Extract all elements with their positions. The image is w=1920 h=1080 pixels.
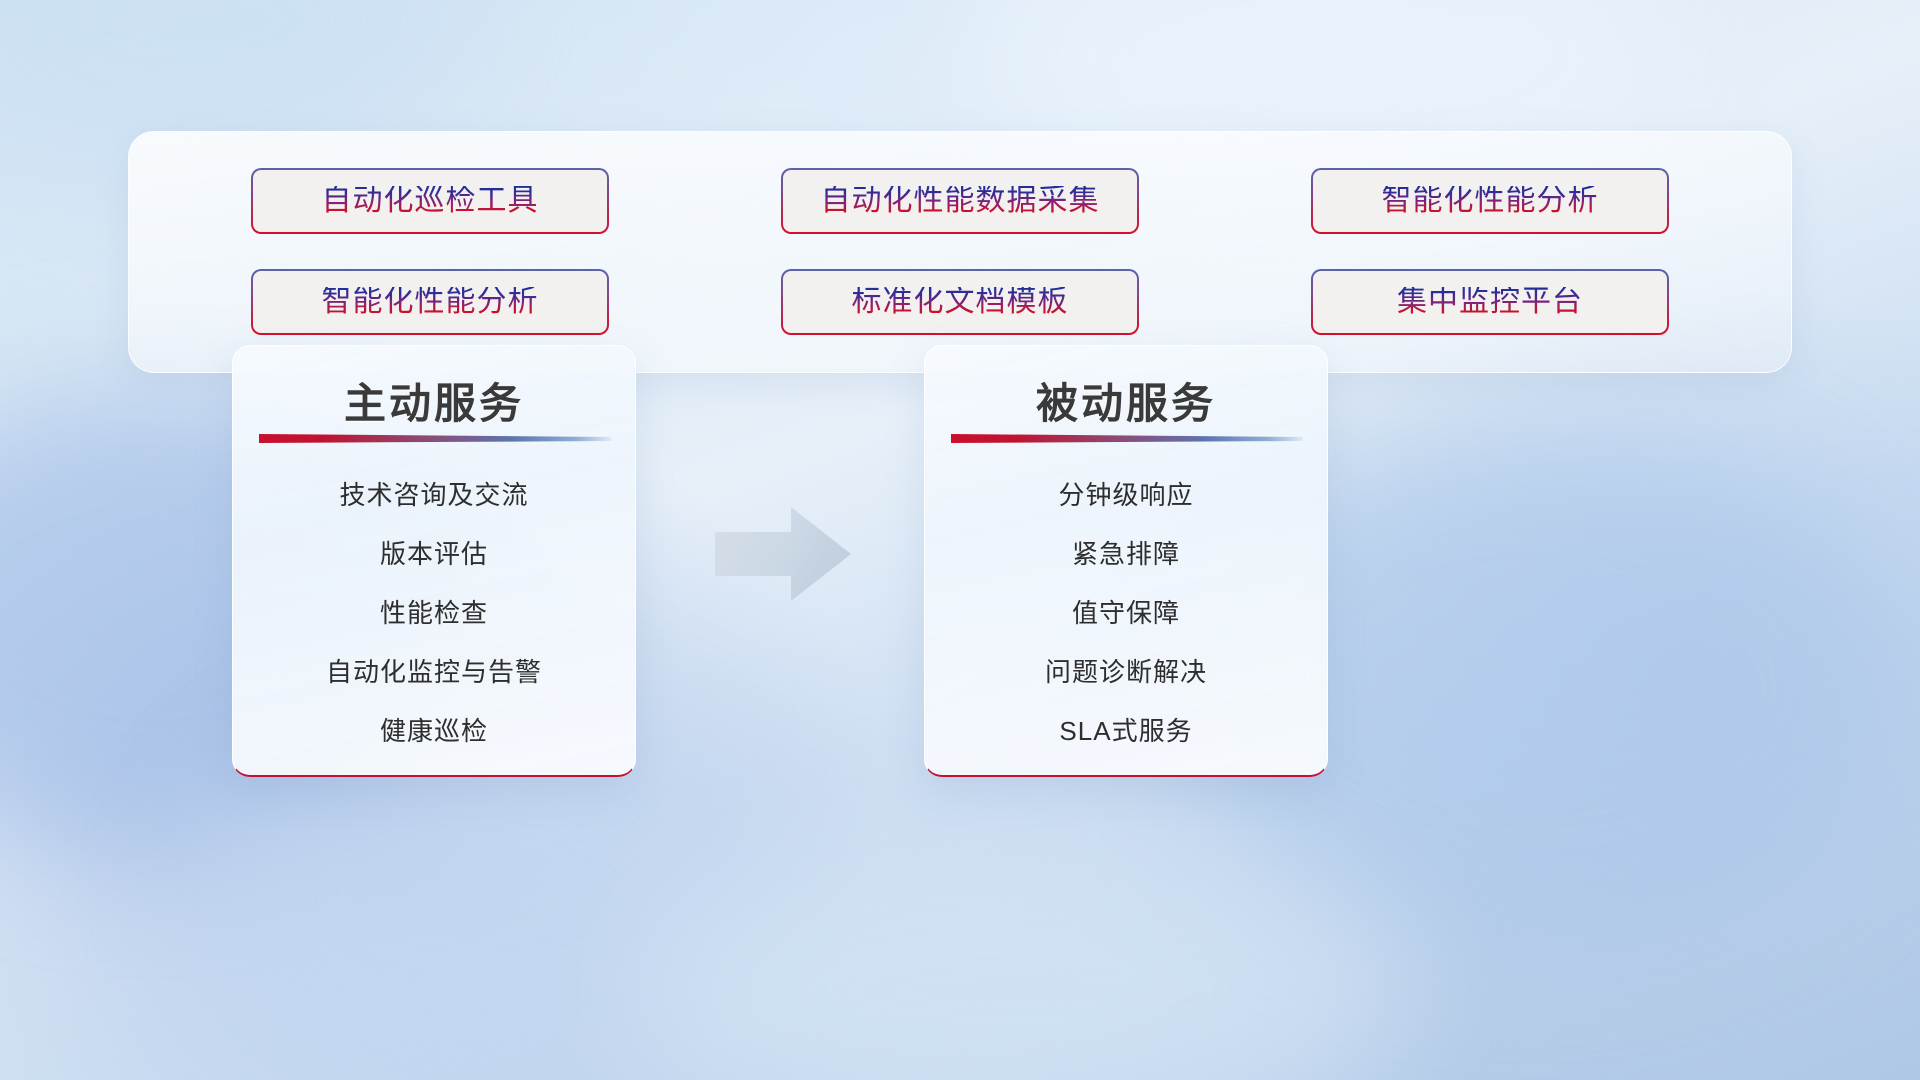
- capability-chip-2-inner: 自动化性能数据采集: [783, 170, 1137, 232]
- list-item: 健康巡检: [380, 702, 488, 761]
- service-card-reactive[interactable]: 被动服务 分钟级响应 紧急排障 值守保障: [924, 345, 1328, 777]
- list-item: SLA式服务: [1059, 702, 1192, 761]
- title-divider-right: [951, 432, 1303, 446]
- capability-chip-4[interactable]: 智能化性能分析: [251, 269, 609, 335]
- service-card-reactive-list: 分钟级响应 紧急排障 值守保障 问题诊断解决 SLA式服务: [925, 466, 1327, 761]
- capability-chip-1-inner: 自动化巡检工具: [253, 170, 607, 232]
- capability-chip-6-label: 集中监控平台: [1397, 287, 1583, 317]
- capability-chip-2-label: 自动化性能数据采集: [821, 186, 1100, 216]
- list-item: 值守保障: [1072, 584, 1180, 643]
- list-item: 版本评估: [380, 525, 488, 584]
- service-card-reactive-title: 被动服务: [925, 370, 1327, 431]
- capability-chip-3-label: 智能化性能分析: [1382, 186, 1599, 216]
- capability-chip-5-label: 标准化文档模板: [852, 287, 1069, 317]
- capability-chip-1-label: 自动化巡检工具: [322, 186, 539, 216]
- title-divider-left: [259, 432, 611, 446]
- capability-chip-4-label: 智能化性能分析: [322, 287, 539, 317]
- service-card-proactive[interactable]: 主动服务 技术咨询及交流 版本评估 性能检查: [232, 345, 636, 777]
- capability-panel: 自动化巡检工具 自动化性能数据采集 智能化性能分析 智能化性能分析: [128, 131, 1792, 373]
- list-item: 紧急排障: [1072, 525, 1180, 584]
- list-item: 自动化监控与告警: [326, 643, 542, 702]
- background-blob: [640, 840, 1400, 1080]
- capability-grid: 自动化巡检工具 自动化性能数据采集 智能化性能分析 智能化性能分析: [129, 132, 1791, 372]
- arrow-right-icon: [713, 505, 853, 603]
- capability-chip-1[interactable]: 自动化巡检工具: [251, 168, 609, 234]
- capability-chip-6-inner: 集中监控平台: [1313, 271, 1667, 333]
- slide-canvas: 自动化巡检工具 自动化性能数据采集 智能化性能分析 智能化性能分析: [0, 0, 1920, 1080]
- service-card-proactive-list: 技术咨询及交流 版本评估 性能检查 自动化监控与告警 健康巡检: [233, 466, 635, 761]
- capability-chip-2[interactable]: 自动化性能数据采集: [781, 168, 1139, 234]
- capability-chip-5[interactable]: 标准化文档模板: [781, 269, 1139, 335]
- capability-chip-6[interactable]: 集中监控平台: [1311, 269, 1669, 335]
- capability-chip-4-inner: 智能化性能分析: [253, 271, 607, 333]
- capability-chip-5-inner: 标准化文档模板: [783, 271, 1137, 333]
- list-item: 技术咨询及交流: [339, 466, 528, 525]
- list-item: 问题诊断解决: [1045, 643, 1207, 702]
- list-item: 分钟级响应: [1058, 466, 1193, 525]
- list-item: 性能检查: [380, 584, 488, 643]
- capability-chip-3-inner: 智能化性能分析: [1313, 170, 1667, 232]
- service-card-proactive-title: 主动服务: [233, 370, 635, 431]
- capability-chip-3[interactable]: 智能化性能分析: [1311, 168, 1669, 234]
